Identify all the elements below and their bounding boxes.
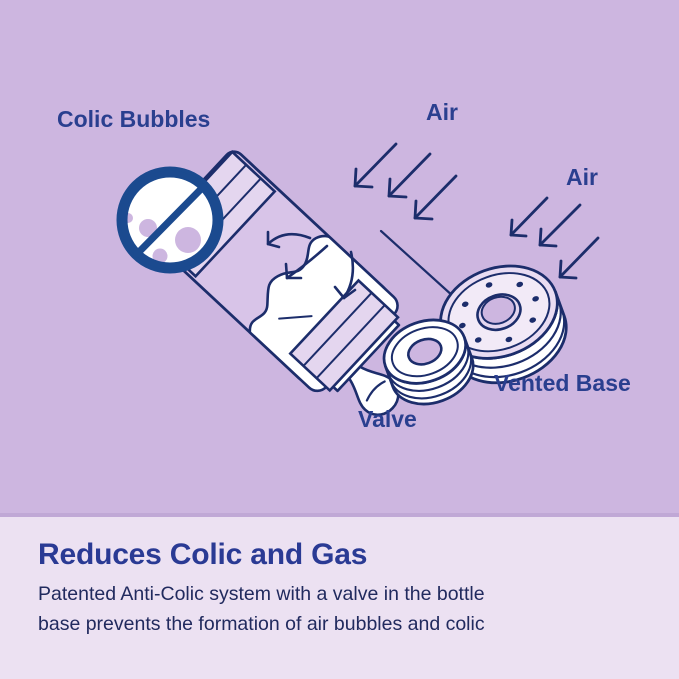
label-valve: Valve — [358, 408, 417, 431]
diagram-illustration — [0, 0, 679, 516]
leader-line-vented-base — [381, 231, 454, 297]
caption-panel: Reduces Colic and Gas Patented Anti-Coli… — [0, 517, 679, 679]
no-bubbles-icon — [120, 170, 220, 275]
air-inflow-arrows-icon — [355, 144, 456, 219]
label-vented-base: Vented Base — [494, 372, 631, 395]
caption-inner: Reduces Colic and Gas Patented Anti-Coli… — [38, 539, 648, 640]
infographic-card: Colic Bubbles Air Air Valve Vented Base … — [0, 0, 679, 679]
label-air-right: Air — [566, 166, 598, 189]
label-colic-bubbles: Colic Bubbles — [57, 108, 210, 131]
caption-body-line-2: base prevents the formation of air bubbl… — [38, 610, 648, 640]
caption-headline: Reduces Colic and Gas — [38, 539, 648, 571]
label-air-top: Air — [426, 101, 458, 124]
diagram-panel: Colic Bubbles Air Air Valve Vented Base — [0, 0, 679, 516]
caption-body-line-1: Patented Anti-Colic system with a valve … — [38, 580, 648, 610]
